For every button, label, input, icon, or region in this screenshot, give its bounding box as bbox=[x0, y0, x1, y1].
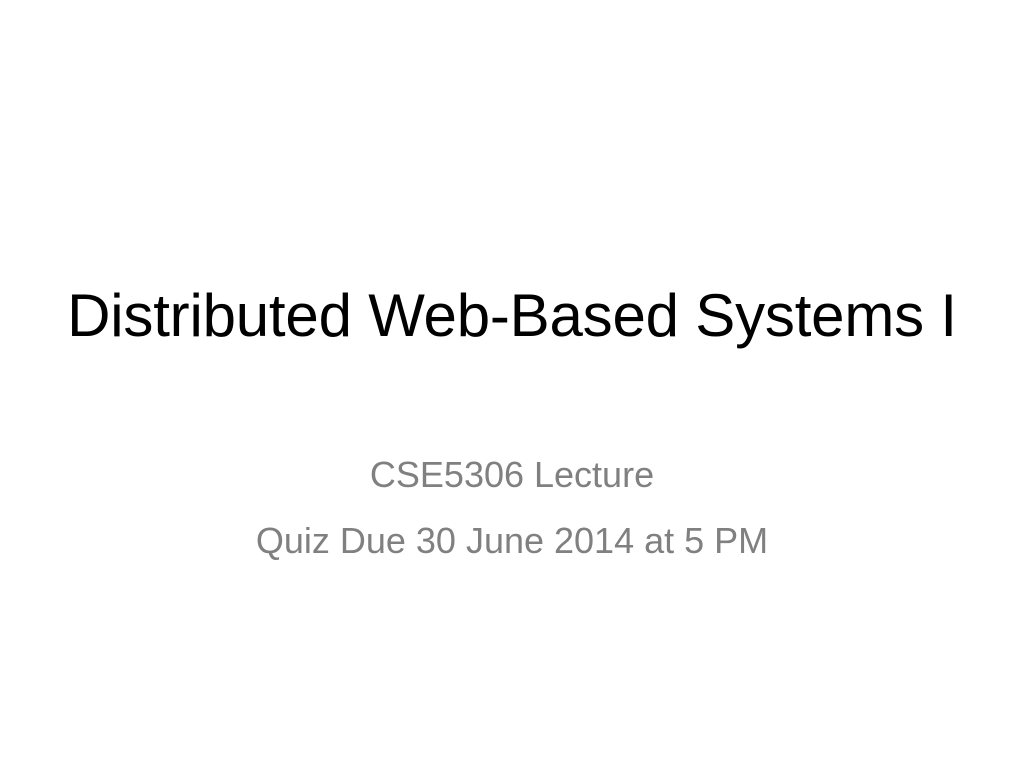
subtitle-line-course: CSE5306 Lecture bbox=[112, 442, 912, 508]
subtitle-line-quiz-due: Quiz Due 30 June 2014 at 5 PM bbox=[112, 508, 912, 574]
slide-title-placeholder: Distributed Web-Based Systems I bbox=[72, 268, 952, 364]
page-title: Distributed Web-Based Systems I bbox=[67, 284, 957, 348]
slide-subtitle-placeholder: CSE5306 Lecture Quiz Due 30 June 2014 at… bbox=[112, 442, 912, 592]
slide-canvas: Distributed Web-Based Systems I CSE5306 … bbox=[0, 0, 1024, 768]
